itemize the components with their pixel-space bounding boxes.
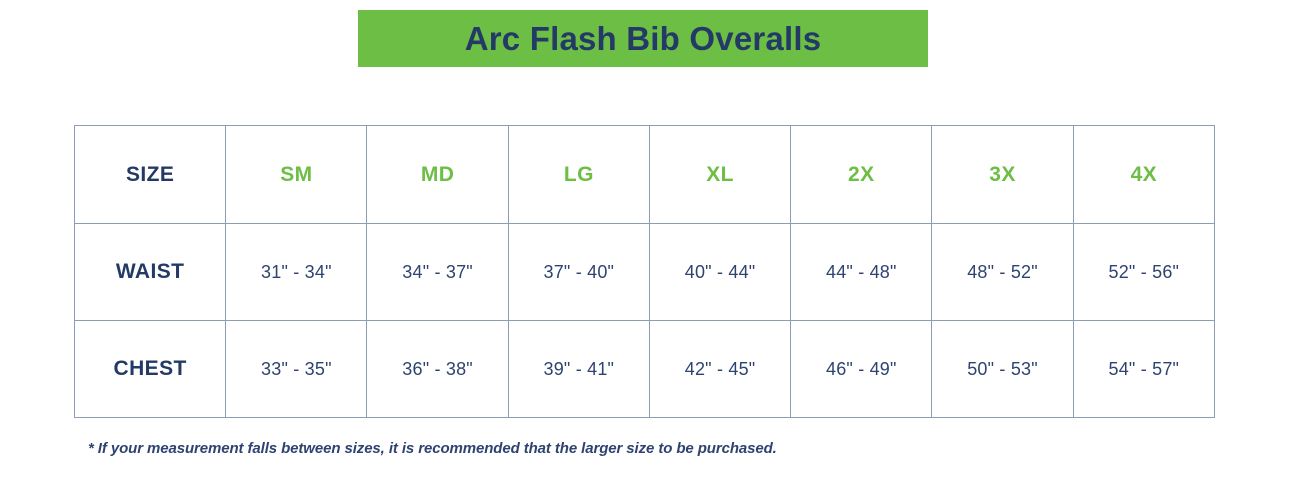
- cell-waist-md: 34" - 37": [367, 224, 508, 321]
- page-title: Arc Flash Bib Overalls: [465, 20, 822, 58]
- size-chart-table: SIZE SM MD LG XL 2X 3X 4X WAIST 31" - 34…: [74, 125, 1215, 413]
- header-cell-size: SIZE: [75, 126, 226, 224]
- cell-chest-sm: 33" - 35": [226, 321, 367, 418]
- cell-waist-lg: 37" - 40": [508, 224, 649, 321]
- cell-chest-xl: 42" - 45": [649, 321, 790, 418]
- header-cell-sm: SM: [226, 126, 367, 224]
- cell-chest-lg: 39" - 41": [508, 321, 649, 418]
- cell-chest-md: 36" - 38": [367, 321, 508, 418]
- header-cell-xl: XL: [649, 126, 790, 224]
- header-cell-4x: 4X: [1073, 126, 1214, 224]
- cell-chest-2x: 46" - 49": [791, 321, 932, 418]
- cell-waist-4x: 52" - 56": [1073, 224, 1214, 321]
- row-label-waist: WAIST: [75, 224, 226, 321]
- header-cell-md: MD: [367, 126, 508, 224]
- cell-chest-4x: 54" - 57": [1073, 321, 1214, 418]
- table-header-row: SIZE SM MD LG XL 2X 3X 4X: [75, 126, 1215, 224]
- size-table: SIZE SM MD LG XL 2X 3X 4X WAIST 31" - 34…: [74, 125, 1215, 418]
- table-row-waist: WAIST 31" - 34" 34" - 37" 37" - 40" 40" …: [75, 224, 1215, 321]
- cell-waist-sm: 31" - 34": [226, 224, 367, 321]
- footnote-text: * If your measurement falls between size…: [88, 440, 777, 457]
- header-cell-lg: LG: [508, 126, 649, 224]
- row-label-chest: CHEST: [75, 321, 226, 418]
- cell-waist-xl: 40" - 44": [649, 224, 790, 321]
- header-cell-2x: 2X: [791, 126, 932, 224]
- header-cell-3x: 3X: [932, 126, 1073, 224]
- table-row-chest: CHEST 33" - 35" 36" - 38" 39" - 41" 42" …: [75, 321, 1215, 418]
- cell-chest-3x: 50" - 53": [932, 321, 1073, 418]
- cell-waist-3x: 48" - 52": [932, 224, 1073, 321]
- cell-waist-2x: 44" - 48": [791, 224, 932, 321]
- title-banner: Arc Flash Bib Overalls: [358, 10, 928, 67]
